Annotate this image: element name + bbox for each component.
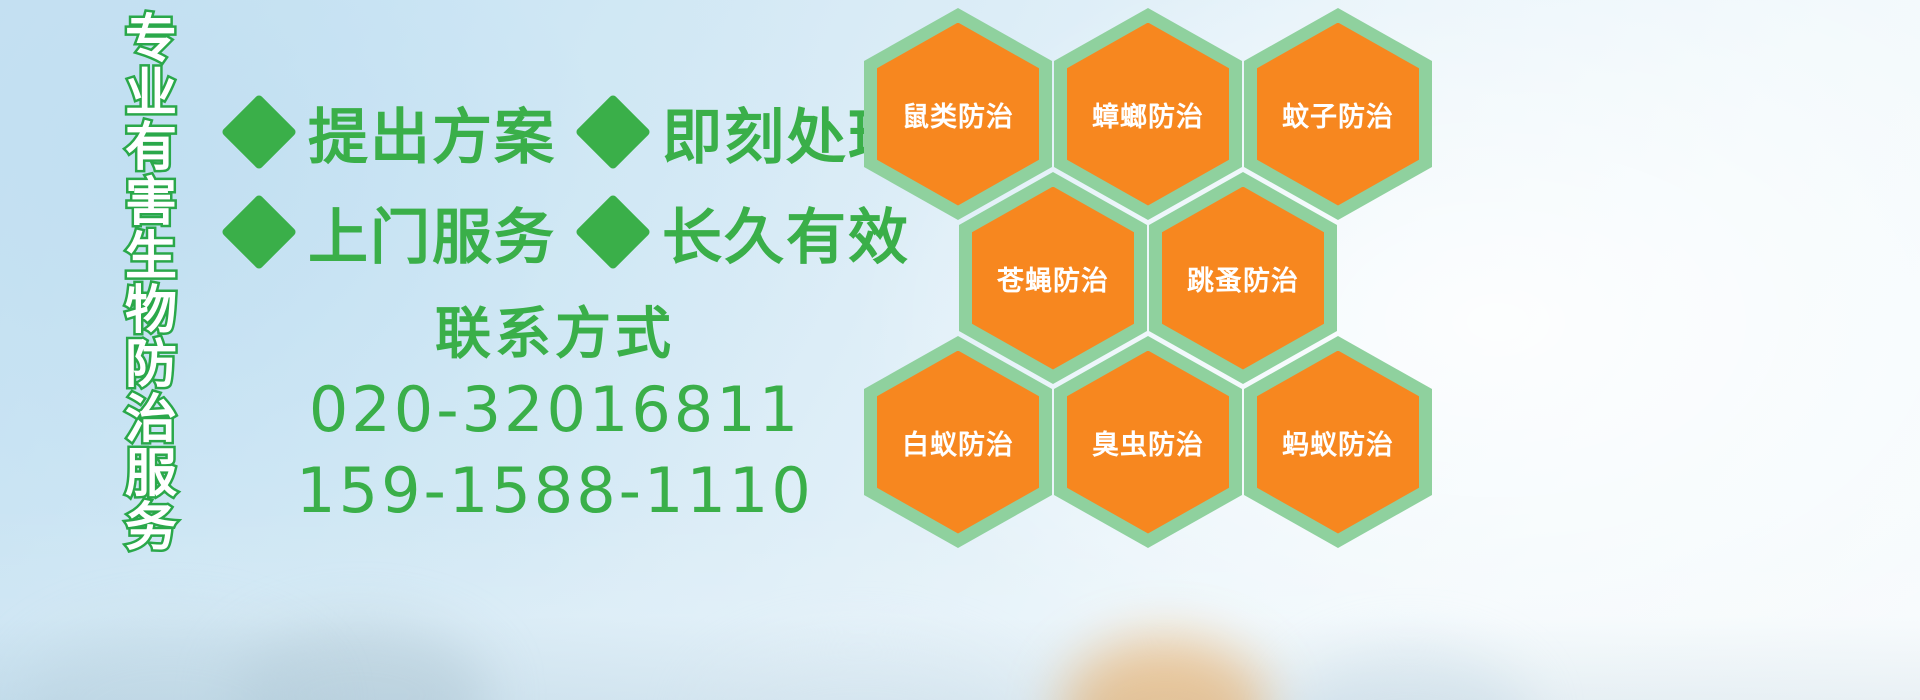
service-label: 臭虫防治 <box>1092 423 1204 462</box>
feature-item-propose-plan: 提出方案 <box>232 89 556 176</box>
diamond-bullet-icon <box>575 194 651 270</box>
feature-item-onsite-service: 上门服务 <box>232 189 556 276</box>
vertical-headline-char: 生 <box>125 231 177 283</box>
service-label: 鼠类防治 <box>902 95 1014 134</box>
service-hex-mosquito[interactable]: 蚊子防治 <box>1244 8 1432 220</box>
vertical-headline-char: 业 <box>125 68 177 120</box>
service-hex-ant[interactable]: 蚂蚁防治 <box>1244 336 1432 548</box>
vertical-headline: 专 业 有 害 生 物 防 治 服 务 <box>108 14 194 554</box>
diamond-bullet-icon <box>221 194 297 270</box>
feature-row: 提出方案 即刻处理 <box>232 82 910 182</box>
feature-list: 提出方案 即刻处理 上门服务 长久有效 <box>232 82 910 282</box>
phone-landline[interactable]: 020-32016811 <box>250 370 860 451</box>
hex-inner: 蚂蚁防治 <box>1257 351 1419 534</box>
service-label: 跳蚤防治 <box>1187 259 1299 298</box>
service-hex-termite[interactable]: 白蚁防治 <box>864 336 1052 548</box>
feature-row: 上门服务 长久有效 <box>232 182 910 282</box>
diamond-bullet-icon <box>221 94 297 170</box>
hex-inner: 蚊子防治 <box>1257 23 1419 206</box>
vertical-headline-char: 有 <box>125 122 177 174</box>
hex-inner: 蟑螂防治 <box>1067 23 1229 206</box>
hex-inner: 苍蝇防治 <box>972 187 1134 370</box>
pest-control-banner: 专 业 有 害 生 物 防 治 服 务 提出方案 即刻处理 上门服务 <box>0 0 1920 700</box>
service-hex-bedbug[interactable]: 臭虫防治 <box>1054 336 1242 548</box>
diamond-bullet-icon <box>575 94 651 170</box>
service-hex-rodent[interactable]: 鼠类防治 <box>864 8 1052 220</box>
service-hex-fly[interactable]: 苍蝇防治 <box>959 172 1147 384</box>
vertical-headline-char: 专 <box>125 14 177 66</box>
vertical-headline-char: 务 <box>125 502 177 554</box>
hex-inner: 臭虫防治 <box>1067 351 1229 534</box>
vertical-headline-char: 服 <box>125 448 177 500</box>
contact-block: 联系方式 020-32016811 159-1588-1110 <box>250 300 860 531</box>
hex-inner: 白蚁防治 <box>877 351 1039 534</box>
service-label: 白蚁防治 <box>902 423 1014 462</box>
service-label: 蚊子防治 <box>1282 95 1394 134</box>
contact-title: 联系方式 <box>250 300 860 370</box>
phone-mobile[interactable]: 159-1588-1110 <box>250 451 860 532</box>
service-label: 蟑螂防治 <box>1092 95 1204 134</box>
feature-label: 上门服务 <box>308 189 556 276</box>
service-label: 蚂蚁防治 <box>1282 423 1394 462</box>
vertical-headline-char: 治 <box>125 394 177 446</box>
hex-inner: 鼠类防治 <box>877 23 1039 206</box>
hex-inner: 跳蚤防治 <box>1162 187 1324 370</box>
service-hex-cockroach[interactable]: 蟑螂防治 <box>1054 8 1242 220</box>
feature-label: 提出方案 <box>308 89 556 176</box>
vertical-headline-char: 害 <box>125 177 177 229</box>
service-hex-flea[interactable]: 跳蚤防治 <box>1149 172 1337 384</box>
service-label: 苍蝇防治 <box>997 259 1109 298</box>
service-hexagon-grid: 鼠类防治 蟑螂防治 蚊子防治 苍蝇防治 跳蚤防治 白蚁防治 <box>856 0 1456 560</box>
vertical-headline-char: 防 <box>125 339 177 391</box>
vertical-headline-char: 物 <box>125 285 177 337</box>
